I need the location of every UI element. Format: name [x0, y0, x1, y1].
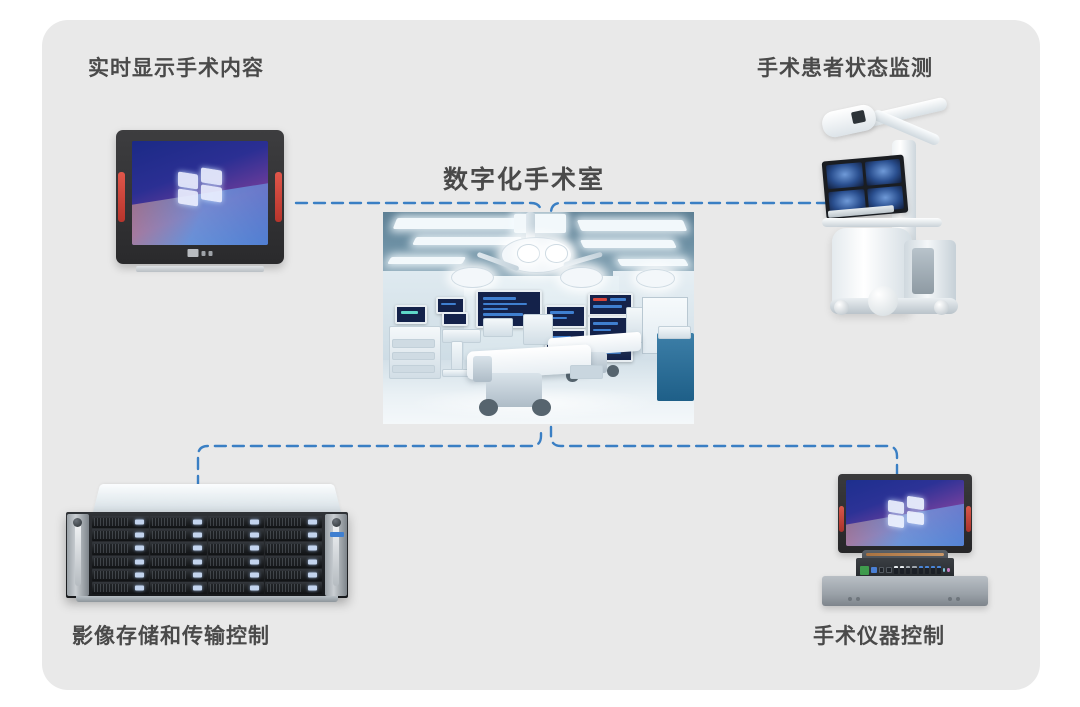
rack-storage-server-icon [66, 480, 348, 610]
link-storage [198, 427, 541, 487]
center-title: 数字化手术室 [443, 160, 605, 196]
node-label-storage: 影像存储和传输控制 [72, 620, 270, 650]
mobile-imaging-cart-icon [800, 100, 990, 315]
node-label-monitor: 手术患者状态监测 [757, 52, 933, 82]
node-label-control: 手术仪器控制 [813, 620, 945, 650]
medical-panel-display-icon [110, 130, 290, 280]
diagram-canvas: 实时显示手术内容 手术患者状态监测 数字化手术室 影像存储和传输控制 手术仪器控… [0, 0, 1080, 707]
operating-room-photo [383, 212, 694, 424]
node-label-display: 实时显示手术内容 [88, 52, 264, 82]
link-control [551, 427, 897, 476]
industrial-panel-pc-icon [800, 470, 1010, 610]
